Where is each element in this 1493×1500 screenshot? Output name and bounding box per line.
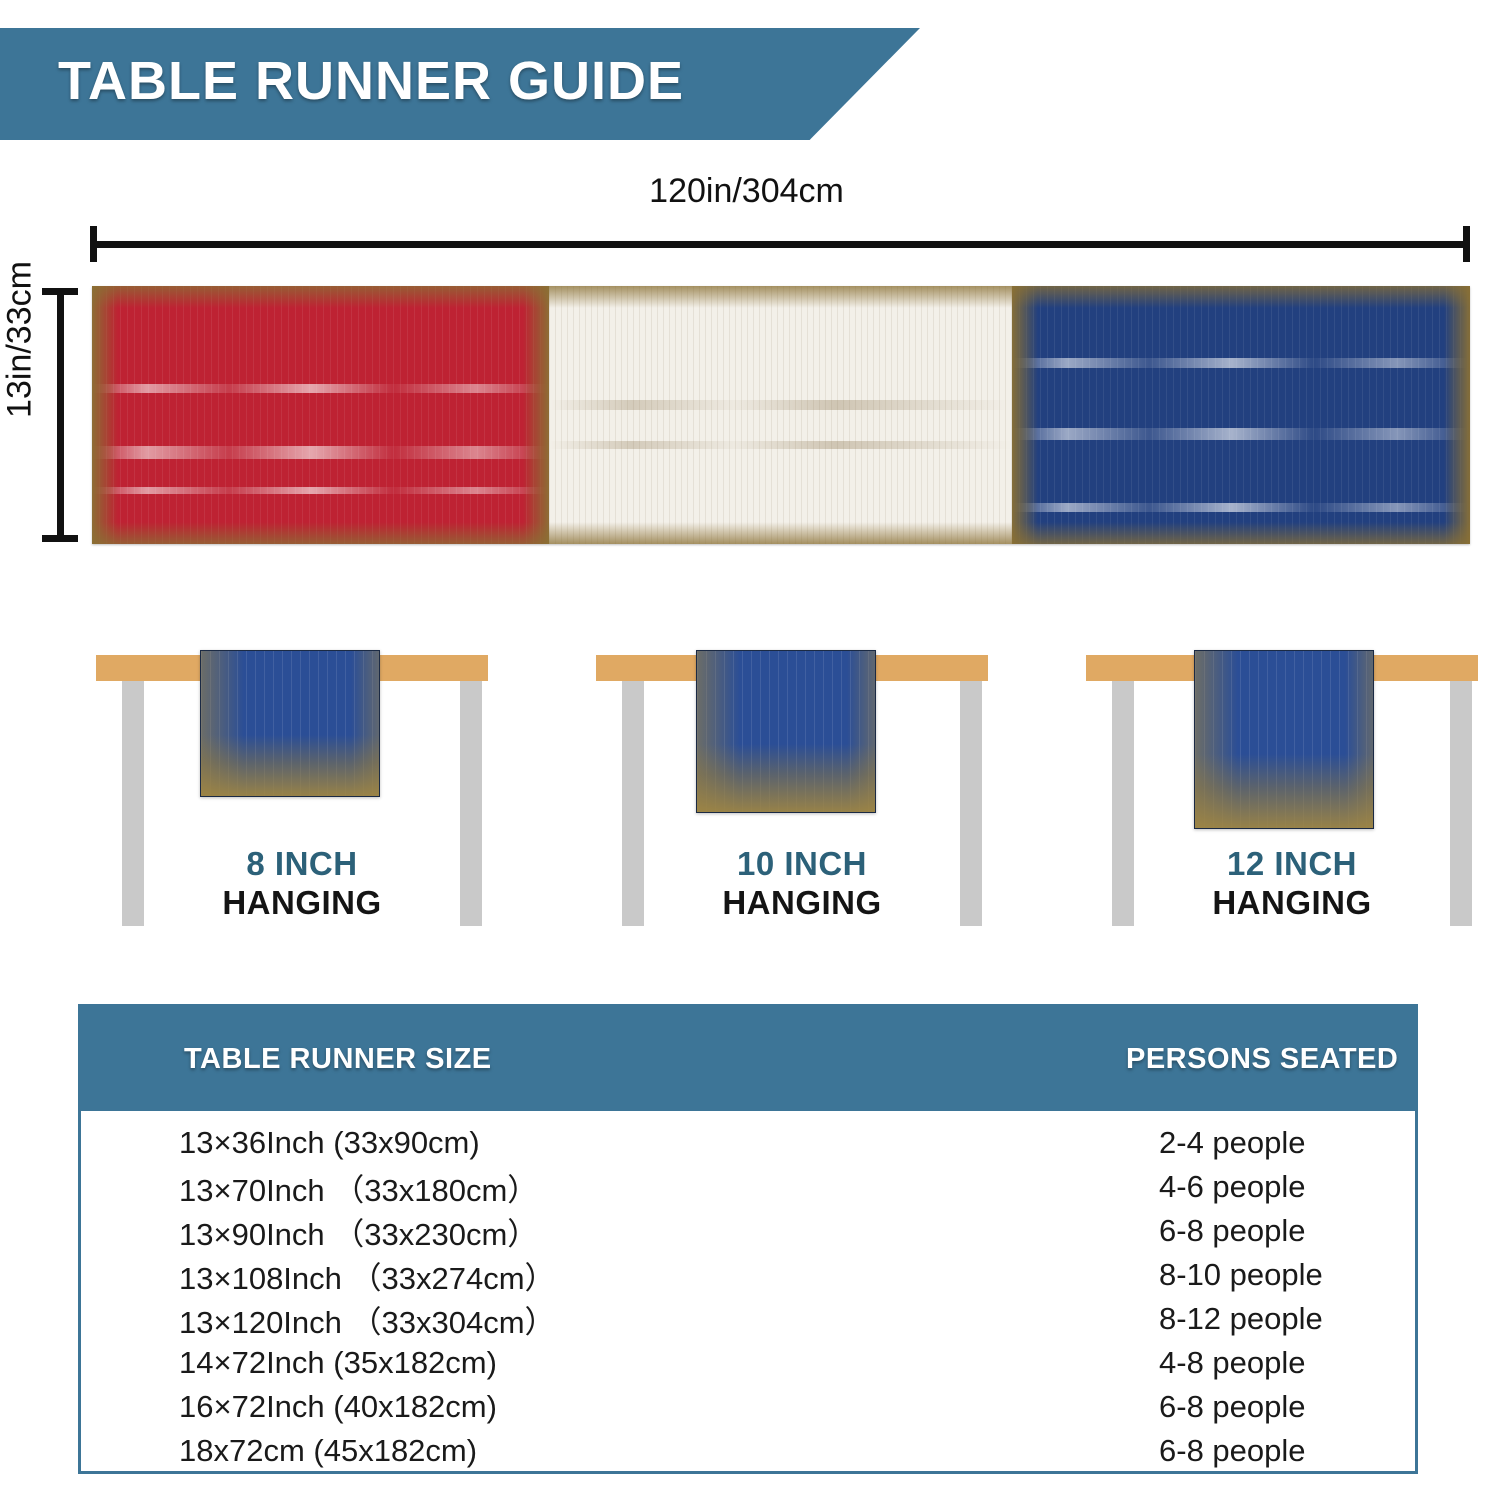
- table-row: 16×72Inch (40x182cm) 6-8 people: [81, 1385, 1415, 1429]
- cell-persons: 6-8 people: [1159, 1213, 1306, 1249]
- distress-scratch: [92, 446, 549, 459]
- cell-persons: 4-6 people: [1159, 1169, 1306, 1205]
- column-header-size: TABLE RUNNER SIZE: [184, 1043, 492, 1076]
- hanging-word-label: HANGING: [92, 884, 512, 922]
- runner-width-label: 120in/304cm: [0, 172, 1493, 211]
- cell-size: 13×108Inch （33x274cm）: [179, 1253, 556, 1298]
- width-dimension-line: [90, 226, 1470, 262]
- distress-scratch: [92, 487, 549, 494]
- runner-distress-bottom: [1195, 754, 1373, 828]
- table-header-row: TABLE RUNNER SIZE PERSONS SEATED: [81, 1007, 1415, 1111]
- distress-edge-bottom: [1012, 522, 1469, 544]
- distress-scratch: [549, 441, 1012, 449]
- hanging-caption: 8 INCH HANGING: [92, 845, 512, 922]
- dimension-bar: [90, 241, 1470, 248]
- distress-edge-right: [1444, 286, 1470, 544]
- table-row: 13×70Inch （33x180cm） 4-6 people: [81, 1165, 1415, 1209]
- table-row: 13×120Inch （33x304cm） 8-12 people: [81, 1297, 1415, 1341]
- runner-segment-red: [92, 286, 549, 544]
- cell-persons: 4-8 people: [1159, 1345, 1306, 1381]
- dimension-bar-vertical: [57, 288, 64, 542]
- hanging-example-8-inch: 8 INCH HANGING: [92, 640, 512, 940]
- table-row: 13×90Inch （33x230cm） 6-8 people: [81, 1209, 1415, 1253]
- wood-grain-texture: [549, 286, 1012, 544]
- runner-height-label: 13in/33cm: [1, 230, 40, 450]
- distress-edge-bottom: [92, 522, 549, 544]
- hanging-inch-label: 12 INCH: [1082, 845, 1493, 883]
- cell-size: 13×70Inch （33x180cm）: [179, 1165, 538, 1210]
- size-chart-table: TABLE RUNNER SIZE PERSONS SEATED 13×36In…: [78, 1004, 1418, 1474]
- distress-scratch: [1012, 428, 1469, 440]
- distress-edge-left: [1012, 286, 1038, 544]
- cell-size: 13×36Inch (33x90cm): [179, 1125, 480, 1161]
- draped-runner: [1194, 650, 1374, 829]
- cell-size: 14×72Inch (35x182cm): [179, 1345, 497, 1381]
- column-header-persons: PERSONS SEATED: [1126, 1043, 1398, 1076]
- cell-persons: 8-10 people: [1159, 1257, 1323, 1293]
- distress-edge-left: [92, 286, 118, 544]
- runner-distress-bottom: [201, 735, 379, 796]
- hanging-inch-label: 8 INCH: [92, 845, 512, 883]
- hanging-example-12-inch: 12 INCH HANGING: [1082, 640, 1493, 940]
- cell-persons: 6-8 people: [1159, 1389, 1306, 1425]
- distress-edge-top: [1012, 286, 1469, 308]
- table-row: 18x72cm (45x182cm) 6-8 people: [81, 1429, 1415, 1473]
- cell-size: 13×120Inch （33x304cm）: [179, 1297, 556, 1342]
- table-row: 13×36Inch (33x90cm) 2-4 people: [81, 1121, 1415, 1165]
- distress-edge-top: [549, 286, 1012, 308]
- height-dimension-line: [42, 288, 78, 542]
- distress-edge-top: [92, 286, 549, 308]
- cell-size: 13×90Inch （33x230cm）: [179, 1209, 538, 1254]
- distress-scratch: [92, 384, 549, 393]
- distress-scratch: [1012, 503, 1469, 512]
- distress-edge-right: [523, 286, 549, 544]
- runner-segment-blue: [1012, 286, 1469, 544]
- cell-size: 18x72cm (45x182cm): [179, 1433, 477, 1469]
- hanging-word-label: HANGING: [1082, 884, 1493, 922]
- wood-grain-texture: [92, 286, 549, 544]
- cell-persons: 2-4 people: [1159, 1125, 1306, 1161]
- draped-runner: [696, 650, 876, 813]
- draped-runner: [200, 650, 380, 797]
- hanging-caption: 10 INCH HANGING: [592, 845, 1012, 922]
- cell-persons: 6-8 people: [1159, 1433, 1306, 1469]
- hanging-word-label: HANGING: [592, 884, 1012, 922]
- table-row: 13×108Inch （33x274cm） 8-10 people: [81, 1253, 1415, 1297]
- hanging-caption: 12 INCH HANGING: [1082, 845, 1493, 922]
- table-body: 13×36Inch (33x90cm) 2-4 people 13×70Inch…: [81, 1111, 1415, 1473]
- dimension-cap-right: [1463, 226, 1470, 262]
- page-title: TABLE RUNNER GUIDE: [58, 50, 684, 112]
- runner-distress-bottom: [697, 744, 875, 812]
- dimension-cap-bottom: [42, 535, 78, 542]
- hanging-inch-label: 10 INCH: [592, 845, 1012, 883]
- table-runner-image: [92, 286, 1470, 544]
- distress-edge-bottom: [549, 522, 1012, 544]
- table-row: 14×72Inch (35x182cm) 4-8 people: [81, 1341, 1415, 1385]
- hanging-example-10-inch: 10 INCH HANGING: [592, 640, 1012, 940]
- cell-persons: 8-12 people: [1159, 1301, 1323, 1337]
- distress-scratch: [1012, 358, 1469, 368]
- runner-segment-white: [549, 286, 1012, 544]
- distress-scratch: [549, 400, 1012, 410]
- cell-size: 16×72Inch (40x182cm): [179, 1389, 497, 1425]
